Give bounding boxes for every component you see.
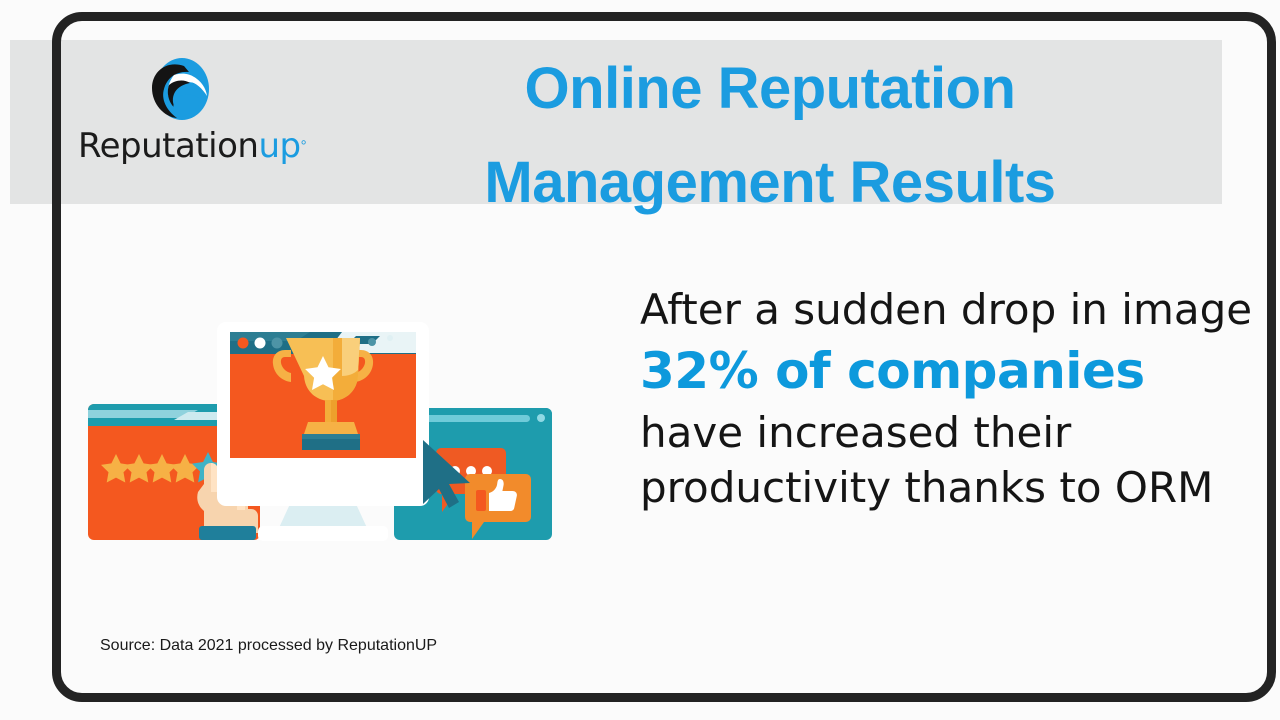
page-title: Online Reputation Management Results [330,42,1210,230]
brand-wordmark-dark: Reputation [78,126,258,166]
copy-line-3: have increased their [640,405,1240,460]
statistic-highlight: 32% of companies [640,337,1240,405]
slide-canvas: Reputationup° Online Reputation Manageme… [0,0,1280,720]
online-reputation-illustration [80,308,562,560]
copy-line-4: productivity thanks to ORM [640,460,1240,515]
source-note: Source: Data 2021 processed by Reputatio… [100,637,437,655]
brand-wordmark: Reputationup° [78,123,308,169]
brand-wordmark-blue: up [258,126,300,166]
brand-logo[interactable]: Reputationup° [78,55,308,180]
statistic-copy-block: After a sudden drop in image 32% of comp… [640,282,1240,515]
brand-registered-mark: ° [301,138,307,155]
reputationup-circle-logo-icon [144,55,214,123]
page-title-line-2: Management Results [330,136,1210,230]
copy-line-1: After a sudden drop in image [640,282,1240,337]
page-title-line-1: Online Reputation [330,42,1210,136]
